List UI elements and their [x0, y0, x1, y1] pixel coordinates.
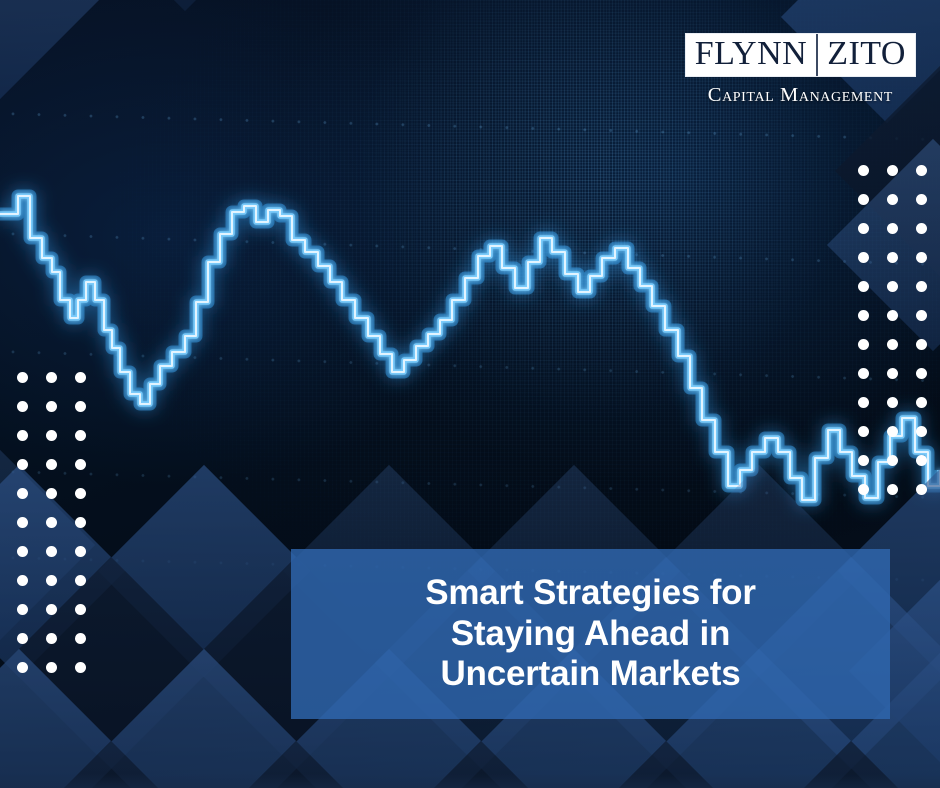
grid-dot	[887, 484, 898, 495]
social-graphic-canvas: FLYNN ZITO Capital Management Smart Stra…	[0, 0, 940, 788]
grid-dot	[858, 223, 869, 234]
grid-dot	[887, 252, 898, 263]
logo-tagline: Capital Management	[685, 84, 916, 107]
grid-dot	[916, 426, 927, 437]
headline-panel: Smart Strategies for Staying Ahead in Un…	[291, 549, 890, 719]
headline-line-3: Uncertain Markets	[440, 654, 740, 695]
grid-dot	[916, 223, 927, 234]
grid-dot	[916, 281, 927, 292]
grid-dot	[916, 397, 927, 408]
grid-dot	[858, 194, 869, 205]
grid-dot	[17, 401, 28, 412]
grid-dot	[17, 372, 28, 383]
grid-dot	[887, 281, 898, 292]
grid-dot	[887, 455, 898, 466]
grid-dot	[75, 401, 86, 412]
grid-dot	[916, 194, 927, 205]
grid-dot	[75, 459, 86, 470]
grid-dot	[858, 455, 869, 466]
headline-line-2: Staying Ahead in	[451, 614, 730, 655]
grid-dot	[858, 484, 869, 495]
grid-dot	[75, 488, 86, 499]
grid-dot	[887, 310, 898, 321]
grid-dot	[916, 368, 927, 379]
grid-dot	[887, 194, 898, 205]
diamond-shape	[0, 0, 106, 99]
grid-dot	[17, 430, 28, 441]
right-dot-grid-decoration	[858, 165, 940, 513]
grid-dot	[887, 397, 898, 408]
grid-dot	[887, 223, 898, 234]
grid-dot	[916, 252, 927, 263]
grid-dot	[46, 662, 57, 673]
grid-dot	[75, 662, 86, 673]
grid-dot	[858, 368, 869, 379]
grid-dot	[17, 546, 28, 557]
grid-dot	[75, 604, 86, 615]
grid-dot	[46, 372, 57, 383]
grid-dot	[75, 517, 86, 528]
bottom-edge-fade	[0, 774, 940, 788]
grid-dot	[858, 252, 869, 263]
grid-dot	[75, 372, 86, 383]
grid-dot	[46, 575, 57, 586]
grid-dot	[75, 633, 86, 644]
grid-dot	[46, 546, 57, 557]
grid-dot	[916, 165, 927, 176]
grid-dot	[916, 455, 927, 466]
grid-dot	[858, 397, 869, 408]
grid-dot	[858, 281, 869, 292]
grid-dot	[17, 662, 28, 673]
grid-dot	[887, 165, 898, 176]
grid-dot	[46, 604, 57, 615]
grid-dot	[887, 339, 898, 350]
grid-dot	[17, 517, 28, 528]
company-logo[interactable]: FLYNN ZITO Capital Management	[685, 33, 916, 107]
grid-dot	[17, 604, 28, 615]
grid-dot	[17, 488, 28, 499]
grid-dot	[75, 575, 86, 586]
grid-dot	[17, 575, 28, 586]
grid-dot	[17, 633, 28, 644]
logo-word-zito: ZITO	[818, 34, 915, 76]
logo-word-flynn: FLYNN	[686, 34, 818, 76]
grid-dot	[46, 488, 57, 499]
diamond-shape	[79, 0, 291, 11]
grid-dot	[887, 368, 898, 379]
grid-dot	[858, 426, 869, 437]
grid-dot	[887, 426, 898, 437]
grid-dot	[46, 430, 57, 441]
grid-dot	[75, 430, 86, 441]
grid-dot	[75, 546, 86, 557]
logo-wordmark-boxes: FLYNN ZITO	[685, 33, 916, 77]
grid-dot	[46, 401, 57, 412]
grid-dot	[916, 484, 927, 495]
left-dot-grid-decoration	[17, 372, 104, 691]
headline-line-1: Smart Strategies for	[425, 573, 756, 614]
grid-dot	[858, 165, 869, 176]
grid-dot	[17, 459, 28, 470]
grid-dot	[916, 310, 927, 321]
grid-dot	[46, 633, 57, 644]
grid-dot	[46, 517, 57, 528]
grid-dot	[46, 459, 57, 470]
grid-dot	[858, 339, 869, 350]
grid-dot	[916, 339, 927, 350]
grid-dot	[858, 310, 869, 321]
